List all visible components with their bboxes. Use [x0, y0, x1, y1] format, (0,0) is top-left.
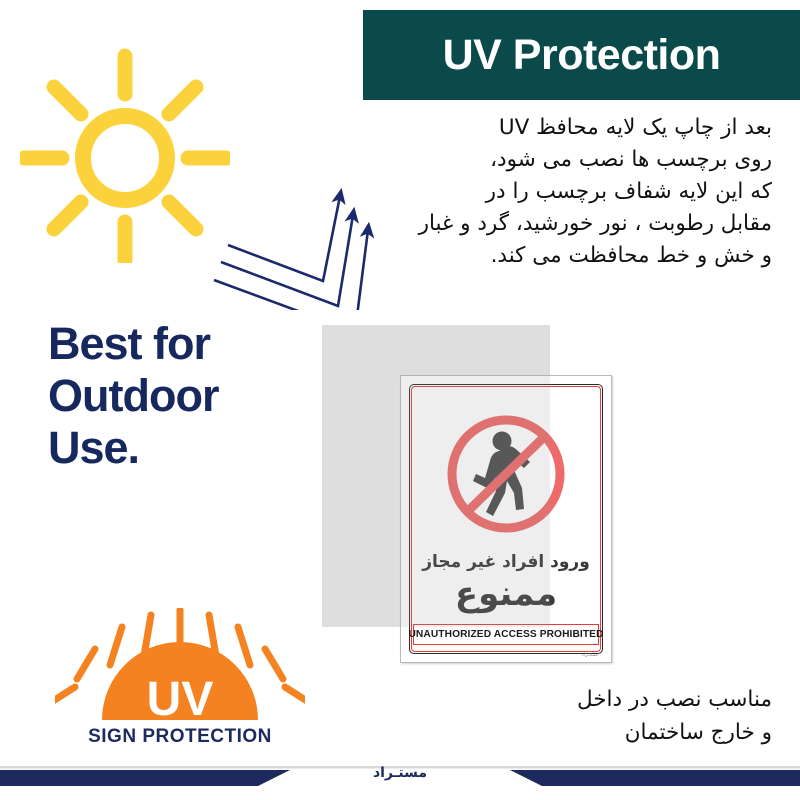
- bottom-line-2: و خارج ساختمان: [420, 716, 772, 749]
- headline-line-1: Best for: [48, 318, 338, 370]
- sun-icon: [20, 48, 230, 263]
- bottom-paragraph: مناسب نصب در داخل و خارج ساختمان: [420, 683, 772, 749]
- uv-reflection-arrows: [205, 170, 385, 310]
- header-banner: UV Protection: [363, 10, 800, 100]
- intro-line-3: که این لایه شفاف برچسب را در: [390, 176, 772, 208]
- sign-content: ورود افراد غیر مجاز ممنوع UNAUTHORIZED A…: [401, 376, 611, 662]
- bottom-line-1: مناسب نصب در داخل: [420, 683, 772, 716]
- poster-canvas: UV Protection بعد از چاپ یک لایه محافظ U…: [0, 0, 800, 800]
- headline: Best for Outdoor Use.: [48, 318, 338, 474]
- sign-text-en: UNAUTHORIZED ACCESS PROHIBITED: [408, 629, 603, 640]
- headline-line-2: Outdoor: [48, 370, 338, 422]
- intro-paragraph: بعد از چاپ یک لایه محافظ UV روی برچسب ها…: [390, 112, 772, 272]
- sign-text-en-band: UNAUTHORIZED ACCESS PROHIBITED: [413, 624, 599, 645]
- uv-logo-tagline: SIGN PROTECTION: [88, 726, 272, 747]
- footer-brand: مستـراد: [0, 765, 800, 781]
- page-title: UV Protection: [443, 34, 721, 77]
- sign-text-fa-2: ممنوع: [401, 572, 611, 616]
- uv-sign-protection-logo: UV SIGN PROTECTION: [55, 608, 305, 748]
- headline-line-3: Use.: [48, 422, 338, 474]
- uv-logo-mark: UV: [147, 673, 214, 726]
- intro-line-1: بعد از چاپ یک لایه محافظ UV: [390, 112, 772, 144]
- intro-line-2: روی برچسب ها نصب می شود،: [390, 144, 772, 176]
- sign-demo-stage: ورود افراد غیر مجاز ممنوع UNAUTHORIZED A…: [322, 325, 622, 670]
- no-pedestrian-icon: [442, 410, 570, 538]
- footer-bar: مستـراد: [0, 757, 800, 800]
- sign-credit: مستـراد: [582, 652, 599, 658]
- warning-sign-card: ورود افراد غیر مجاز ممنوع UNAUTHORIZED A…: [400, 375, 612, 663]
- intro-line-4: مقابل رطوبت ، نور خورشید، گرد و غبار: [390, 208, 772, 240]
- intro-line-5: و خش و خط محافظت می کند.: [390, 240, 772, 272]
- sign-text-fa-1: ورود افراد غیر مجاز: [401, 552, 611, 572]
